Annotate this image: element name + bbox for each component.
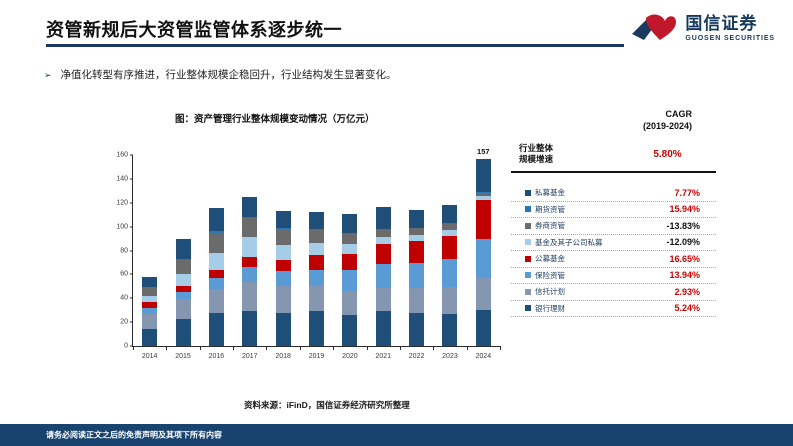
chart-bar-segment [342,270,357,290]
bar-value-label: 157 [477,147,490,156]
chart-bar-segment [176,292,191,299]
chart-bar-segment [342,234,357,244]
chart-bar-segment [209,233,224,253]
chart-plot-area: 0204060801001201401602014201520162017201… [132,155,500,347]
chart-bar-segment [476,159,491,192]
legend-label: 银行理财 [535,303,565,314]
chart-bar-segment [142,314,157,330]
chart-bar-segment [276,260,291,271]
chart-bar-segment [242,237,257,256]
legend-cagr-value: 15.94% [669,204,700,214]
legend-swatch-icon [525,272,531,278]
legend-row: 私募基金7.77% [511,185,716,202]
cagr-period: (2019-2024) [511,120,692,132]
x-axis-tick-label: 2022 [409,353,425,360]
legend-swatch-icon [525,256,531,262]
y-axis-tick-mark [130,250,133,251]
chart-bar-segment [142,287,157,297]
cagr-panel: CAGR (2019-2024) 行业整体 规模增速 5.80% 私募基金7.7… [511,108,716,317]
chart-bar-segment [242,267,257,281]
legend-swatch-icon [525,223,531,229]
chart-bar-segment [276,271,291,287]
x-axis-tick-mark [433,346,434,350]
legend-cagr-value: 16.65% [669,254,700,264]
slide-header: 资管新规后大资管监管体系逐步统一 国信证券 GUOSEN SECURITIES [0,0,793,58]
chart-bar [176,239,191,346]
chart-bar [442,205,457,346]
chart-bar-segment [142,277,157,287]
chart-bar-segment [209,278,224,289]
chart-bar-segment [476,310,491,346]
legend-swatch-icon [525,190,531,196]
industry-total-label: 行业整体 规模增速 [511,143,619,165]
legend-label: 私募基金 [535,187,565,198]
page-title: 资管新规后大资管监管体系逐步统一 [46,16,342,42]
x-axis-tick-mark [400,346,401,350]
chart-bar-segment [242,282,257,312]
legend-row: 信托计划2.93% [511,284,716,301]
bullet-text: 净值化转型有序推进，行业整体规模企稳回升，行业结构发生显著变化。 [61,68,397,82]
chart-bar-segment [276,245,291,261]
y-axis-tick-mark [130,178,133,179]
chart-bar-segment [176,299,191,318]
chart-bar-segment [309,255,324,269]
x-axis-tick-mark [200,346,201,350]
chart-bar-segment [476,200,491,239]
chart-bar-segment [309,311,324,346]
chart-bar [209,208,224,346]
chart-bar-segment [209,313,224,346]
legend-row: 券商资管-13.83% [511,218,716,235]
chart-bar-segment [276,286,291,312]
x-axis-tick-label: 2024 [476,353,492,360]
x-axis-tick-mark [233,346,234,350]
guosen-logo-icon [630,12,678,44]
x-axis-tick-mark [467,346,468,350]
chart-container: 0204060801001201401602014201520162017201… [104,155,500,355]
x-axis-tick-mark [367,346,368,350]
chart-bar-segment [176,260,191,274]
bullet-point: ➢ 净值化转型有序推进，行业整体规模企稳回升，行业结构发生显著变化。 [44,68,397,82]
legend-table: 私募基金7.77%期货资管15.94%券商资管-13.83%基金及其子公司私募-… [511,185,716,317]
y-axis-tick-mark [130,298,133,299]
x-axis-tick-label: 2017 [242,353,258,360]
chart-bar-segment [409,210,424,228]
chart-bar-segment [376,237,391,244]
legend-swatch-icon [525,206,531,212]
chart-bar-segment [476,239,491,278]
chart-bar-segment [176,319,191,346]
legend-label: 券商资管 [535,220,565,231]
industry-total-label-line1: 行业整体 [519,143,619,154]
chart-bar-segment [409,313,424,346]
chart-bar-segment [209,289,224,313]
cagr-header: CAGR (2019-2024) [511,108,716,132]
chart-bar-segment [142,329,157,346]
chart-bar [409,210,424,346]
chart-bar [142,277,157,346]
x-axis-tick-label: 2014 [142,353,158,360]
legend-cagr-value: 7.77% [674,188,700,198]
chart-bar-segment [276,229,291,245]
chart-bar-segment [309,286,324,311]
legend-row: 期货资管15.94% [511,202,716,219]
x-axis-tick-mark [266,346,267,350]
legend-swatch-icon [525,289,531,295]
x-axis-tick-mark [333,346,334,350]
chart-bar-segment [342,214,357,234]
chart-bar-segment [309,230,324,243]
legend-cagr-value: 5.24% [674,303,700,313]
chart-title: 图：资产管理行业整体规模变动情况（万亿元） [175,111,375,125]
title-underline [46,44,624,47]
y-axis-tick-mark [130,322,133,323]
slide-footer: 请务必阅读正文之后的免责声明及其项下所有内容 [0,424,793,446]
x-axis-tick-label: 2018 [275,353,291,360]
chart-source-note: 资料来源：iFinD，国信证券经济研究所整理 [244,399,410,411]
legend-row: 基金及其子公司私募-12.09% [511,235,716,252]
brand-logo: 国信证券 GUOSEN SECURITIES [630,12,775,44]
chart-bar: 157 [476,159,491,346]
chart-bar-segment [442,259,457,286]
legend-cagr-value: -12.09% [666,237,700,247]
legend-label: 信托计划 [535,286,565,297]
x-axis-tick-label: 2023 [442,353,458,360]
chart-bar-segment [409,241,424,262]
chart-bar-segment [376,244,391,264]
chart-bar-segment [442,236,457,259]
x-axis-tick-label: 2020 [342,353,358,360]
chart-bar-segment [242,311,257,346]
legend-row: 银行理财5.24% [511,301,716,318]
legend-swatch-icon [525,305,531,311]
chart-bar-segment [209,253,224,270]
legend-cagr-value: 2.93% [674,287,700,297]
legend-cagr-value: -13.83% [666,221,700,231]
chart-bar-segment [409,263,424,288]
chart-bar-segment [476,278,491,310]
chart-bar-segment [309,212,324,229]
y-axis-tick-mark [130,155,133,156]
logo-wordmark: 国信证券 GUOSEN SECURITIES [685,15,775,42]
x-axis-tick-label: 2016 [209,353,225,360]
chart-bar [309,212,324,346]
x-axis-tick-label: 2015 [175,353,191,360]
chart-bar-segment [409,228,424,235]
chart-bar-segment [442,205,457,223]
x-axis-tick-label: 2021 [375,353,391,360]
chart-bar [342,214,357,347]
legend-cagr-value: 13.94% [669,270,700,280]
chart-bar [376,207,391,346]
footer-disclaimer: 请务必阅读正文之后的免责声明及其项下所有内容 [46,430,222,441]
industry-total-value: 5.80% [619,149,716,160]
chart-bar-segment [309,270,324,287]
x-axis-tick-mark [500,346,501,350]
legend-label: 公募基金 [535,253,565,264]
chart-bar-segment [209,208,224,232]
x-axis-tick-mark [166,346,167,350]
chart-bar-segment [276,313,291,346]
logo-chinese: 国信证券 [685,15,775,32]
chart-bar-segment [376,288,391,312]
chart-bar [242,197,257,346]
cagr-label: CAGR [511,108,692,120]
chart-bar-segment [442,287,457,314]
industry-total-label-line2: 规模增速 [519,154,619,165]
x-axis-tick-mark [300,346,301,350]
chart-bar-segment [376,230,391,237]
legend-label: 基金及其子公司私募 [535,237,603,248]
chart-bar-segment [376,311,391,346]
chart-bar-segment [242,218,257,237]
y-axis-tick-mark [130,202,133,203]
chart-bar-segment [276,211,291,228]
legend-swatch-icon [525,239,531,245]
chart-bar [276,211,291,346]
legend-label: 保险资管 [535,270,565,281]
industry-total-row: 行业整体 规模增速 5.80% [511,143,716,173]
slide-root: 资管新规后大资管监管体系逐步统一 国信证券 GUOSEN SECURITIES … [0,0,793,446]
y-axis-tick-mark [130,226,133,227]
x-axis-tick-label: 2019 [309,353,325,360]
chart-bar-segment [176,239,191,260]
chart-bar-segment [309,243,324,255]
chart-bar-segment [376,207,391,229]
chart-bar-segment [176,274,191,286]
legend-row: 公募基金16.65% [511,251,716,268]
chart-bar-segment [242,197,257,217]
logo-english: GUOSEN SECURITIES [685,35,775,42]
chart-bar-segment [209,270,224,278]
chart-bar-segment [376,264,391,287]
y-axis-tick-mark [130,274,133,275]
chart-bar-segment [442,314,457,346]
chart-bar-segment [342,254,357,271]
chart-bar-segment [409,288,424,313]
chart-bar-segment [242,257,257,268]
chart-bar-segment [342,315,357,346]
x-axis-tick-mark [133,346,134,350]
bullet-arrow-icon: ➢ [44,68,52,82]
legend-label: 期货资管 [535,204,565,215]
chart-bar-segment [342,291,357,315]
chart-bar-segment [342,244,357,254]
legend-row: 保险资管13.94% [511,268,716,285]
